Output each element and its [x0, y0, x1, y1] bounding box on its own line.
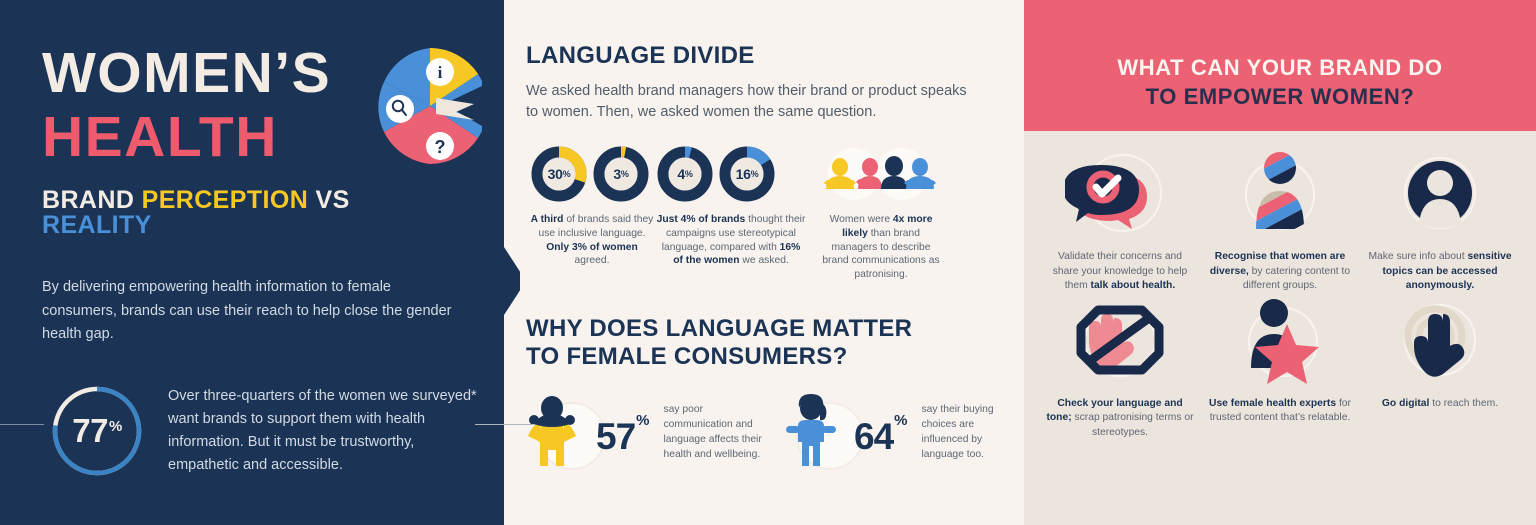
page-subtitle: BRAND PERCEPTION VS REALITY	[42, 188, 464, 238]
right-panel: WHAT CAN YOUR BRAND DO TO EMPOWER WOMEN?…	[1024, 0, 1536, 525]
left-panel: i ? WOMEN’S HEALTH BRAND PERCEPTION VS R…	[0, 0, 504, 525]
tip-caption-2: Recognise that women are diverse, by cat…	[1206, 250, 1354, 294]
divider-rule-left	[0, 424, 44, 425]
tips-grid: Validate their concerns and share your k…	[1024, 131, 1536, 441]
tip-validate-concerns: Validate their concerns and share your k…	[1040, 147, 1200, 294]
tip-caption-3: Make sure info about sensitive topics ca…	[1366, 250, 1514, 294]
bottom-stat-row: 57% say poor communication and language …	[526, 392, 998, 474]
stat-77-value: 77%	[48, 382, 146, 480]
divider-rule-mid	[475, 424, 535, 425]
donut-caption-2: Just 4% of brands thought their campaign…	[656, 213, 806, 268]
empower-header: WHAT CAN YOUR BRAND DO TO EMPOWER WOMEN?	[1024, 0, 1536, 131]
stat-57-caption: say poor communication and language affe…	[664, 403, 765, 463]
brand-logo-mark: i ?	[378, 42, 482, 170]
svg-text:i: i	[438, 63, 443, 82]
subtitle-brand: BRAND	[42, 186, 142, 214]
stat-77-block: 77% Over three-quarters of the women we …	[48, 382, 478, 480]
language-divide-lead: We asked health brand managers how their…	[526, 81, 978, 125]
donut-cell-16: 16%	[718, 145, 776, 203]
people-group-patronising: Women were 4x more likely than brand man…	[818, 145, 944, 282]
donut-chart-3: 3%	[592, 145, 650, 203]
donut-chart-row: 30% 3% A third o	[526, 145, 998, 282]
expert-star-person-icon	[1225, 294, 1335, 390]
middle-panel: LANGUAGE DIVIDE We asked health brand ma…	[504, 0, 1024, 525]
donut-chart-4: 4%	[656, 145, 714, 203]
donut-label-30: 30%	[530, 145, 588, 203]
people-icons	[818, 145, 944, 203]
speech-bubble-check-icon	[1065, 147, 1175, 243]
donut-cell-3: 3%	[592, 145, 650, 203]
anonymous-person-icon	[1385, 147, 1495, 243]
donut-chart-16: 16%	[718, 145, 776, 203]
subtitle-perception: PERCEPTION	[142, 186, 309, 214]
donut-chart-30: 30%	[530, 145, 588, 203]
tip-female-experts: Use female health experts for trusted co…	[1200, 294, 1360, 441]
why-language-heading-line2: TO FEMALE CONSUMERS?	[526, 343, 998, 371]
tip-caption-6: Go digital to reach them.	[1366, 397, 1514, 412]
empower-heading-line2: TO EMPOWER WOMEN?	[1146, 83, 1415, 111]
stat-57-value: 57%	[596, 416, 648, 458]
people-caption: Women were 4x more likely than brand man…	[818, 213, 944, 282]
tip-check-language: Check your language and tone; scrap patr…	[1040, 294, 1200, 441]
stat-64-block: 64% say their buying choices are influen…	[784, 392, 1022, 474]
tip-caption-4: Check your language and tone; scrap patr…	[1046, 397, 1194, 441]
progress-ring-77: 77%	[48, 382, 146, 480]
subtitle-reality: REALITY	[42, 211, 152, 239]
tap-hand-digital-icon	[1385, 294, 1495, 390]
stat-57-block: 57% say poor communication and language …	[526, 392, 764, 474]
intro-paragraph: By delivering empowering health informat…	[42, 276, 462, 346]
search-icon	[386, 95, 414, 123]
infographic-root: i ? WOMEN’S HEALTH BRAND PERCEPTION VS R…	[0, 0, 1536, 525]
donut-cell-4: 4%	[656, 145, 714, 203]
donut-group-stereotypical: 4% 16% Just 4% o	[656, 145, 806, 268]
donut-label-16: 16%	[718, 145, 776, 203]
tip-go-digital: Go digital to reach them.	[1360, 294, 1520, 441]
why-language-heading-line1: WHY DOES LANGUAGE MATTER	[526, 315, 998, 343]
divider-chevron-mid	[520, 244, 537, 304]
empower-heading-line1: WHAT CAN YOUR BRAND DO	[1117, 54, 1442, 82]
svg-text:?: ?	[435, 137, 446, 157]
stat-64-value: 64%	[854, 416, 906, 458]
stat-77-description: Over three-quarters of the women we surv…	[168, 385, 478, 478]
language-divide-heading: LANGUAGE DIVIDE	[526, 42, 998, 70]
tip-caption-1: Validate their concerns and share your k…	[1046, 250, 1194, 294]
donut-caption-1: A third of brands said they use inclusiv…	[530, 213, 654, 268]
stat-64-caption: say their buying choices are influenced …	[922, 403, 1023, 463]
tip-recognise-diverse: Recognise that women are diverse, by cat…	[1200, 147, 1360, 294]
subtitle-vs: VS	[308, 186, 350, 214]
tip-caption-5: Use female health experts for trusted co…	[1206, 397, 1354, 426]
tip-anonymous-access: Make sure info about sensitive topics ca…	[1360, 147, 1520, 294]
no-patronising-hand-icon	[1065, 294, 1175, 390]
donut-label-4: 4%	[656, 145, 714, 203]
diverse-person-icon	[1225, 147, 1335, 243]
donut-cell-30: 30%	[530, 145, 588, 203]
donut-label-3: 3%	[592, 145, 650, 203]
donut-group-brands-vs-women: 30% 3% A third o	[530, 145, 654, 268]
